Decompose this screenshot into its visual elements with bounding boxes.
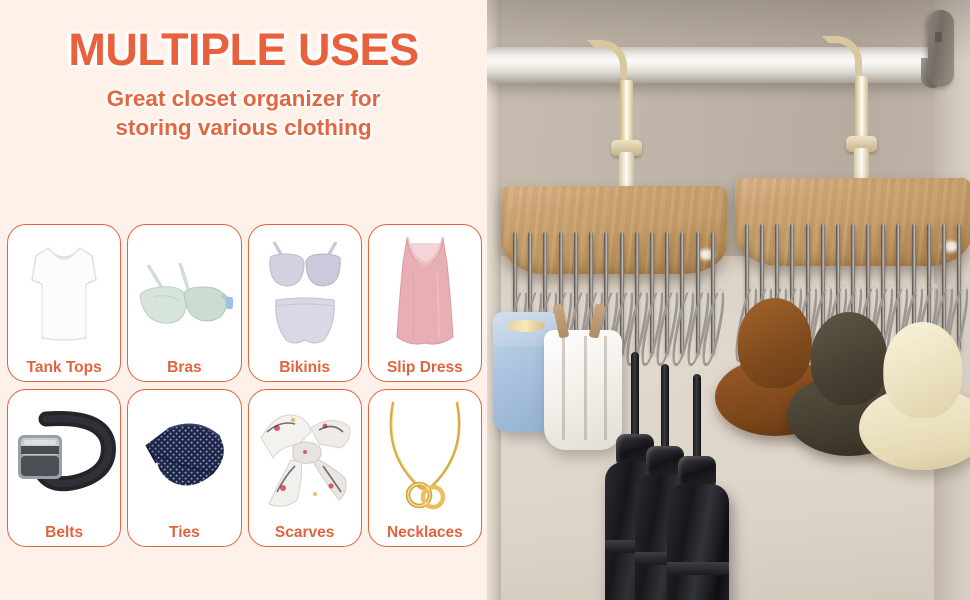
product-photo-panel bbox=[487, 0, 970, 600]
use-case-card-tank-tops[interactable]: Tank Tops bbox=[7, 224, 121, 382]
use-case-card-ties[interactable]: Ties bbox=[127, 389, 241, 547]
use-case-label: Belts bbox=[8, 524, 120, 542]
page-subtitle-line2: storing various clothing bbox=[0, 114, 487, 143]
use-case-label: Scarves bbox=[249, 524, 361, 542]
use-case-label: Bras bbox=[128, 359, 240, 377]
use-case-label: Necklaces bbox=[369, 524, 481, 542]
headline-block: MULTIPLE USES Great closet organizer for… bbox=[0, 0, 487, 143]
slip-dress-icon bbox=[369, 229, 481, 355]
scarf-icon bbox=[249, 394, 361, 520]
use-case-label: Bikinis bbox=[249, 359, 361, 377]
use-case-label: Ties bbox=[128, 524, 240, 542]
page-subtitle-line1: Great closet organizer for bbox=[0, 85, 487, 114]
tie-icon bbox=[128, 394, 240, 520]
use-case-card-scarves[interactable]: Scarves bbox=[248, 389, 362, 547]
closet-corner-left bbox=[487, 0, 501, 600]
tank-top-icon bbox=[8, 229, 120, 355]
use-case-label: Tank Tops bbox=[8, 359, 120, 377]
bikini-icon bbox=[249, 229, 361, 355]
hanging-white-handbag bbox=[544, 330, 622, 450]
use-case-card-slip-dress[interactable]: Slip Dress bbox=[368, 224, 482, 382]
infographic-page: MULTIPLE USES Great closet organizer for… bbox=[0, 0, 970, 600]
use-case-label: Slip Dress bbox=[369, 359, 481, 377]
use-case-card-bras[interactable]: Bras bbox=[127, 224, 241, 382]
use-case-card-bikinis[interactable]: Bikinis bbox=[248, 224, 362, 382]
bra-icon bbox=[128, 229, 240, 355]
closet-rod bbox=[487, 47, 943, 83]
belt-icon bbox=[8, 394, 120, 520]
use-case-grid: Tank Tops Bras bbox=[7, 224, 482, 547]
necklace-icon bbox=[369, 394, 481, 520]
hanging-cream-hat bbox=[859, 320, 970, 470]
left-info-panel: MULTIPLE USES Great closet organizer for… bbox=[0, 0, 487, 600]
page-title: MULTIPLE USES bbox=[0, 26, 487, 73]
use-case-card-belts[interactable]: Belts bbox=[7, 389, 121, 547]
rod-wall-bracket bbox=[928, 10, 954, 86]
page-subtitle: Great closet organizer for storing vario… bbox=[0, 85, 487, 143]
use-case-card-necklaces[interactable]: Necklaces bbox=[368, 389, 482, 547]
